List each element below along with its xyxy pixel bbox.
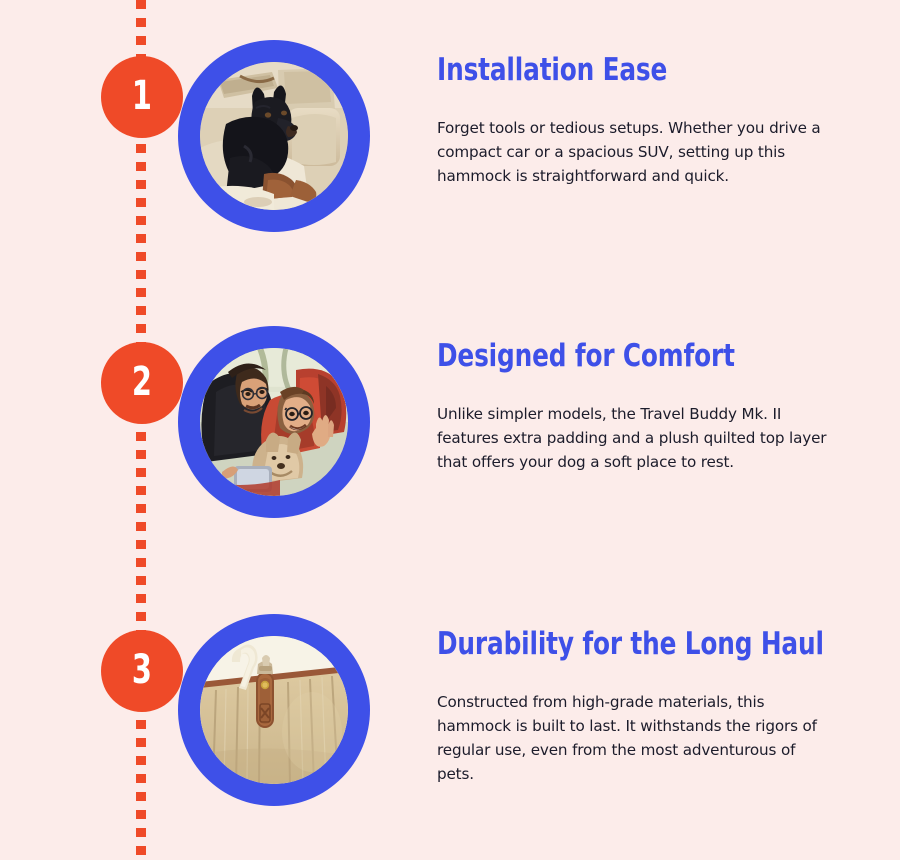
step-description: Constructed from high-grade materials, t… (437, 690, 829, 786)
step-number-badge: 3 (101, 630, 183, 712)
step-title: Installation Ease (437, 52, 757, 88)
step-title: Designed for Comfort (437, 338, 757, 374)
step-text-column: Designed for Comfort Unlike simpler mode… (437, 312, 837, 474)
step-photo-ring (178, 326, 370, 518)
couple-selfie-with-dog-in-hammock-photo (200, 348, 348, 496)
step-text-column: Installation Ease Forget tools or tediou… (437, 26, 837, 188)
step-description: Unlike simpler models, the Travel Buddy … (437, 402, 829, 474)
step-number-badge: 2 (101, 342, 183, 424)
quilted-hammock-leather-strap-closeup-photo (200, 636, 348, 784)
step-number-label: 2 (132, 362, 152, 402)
step-photo-ring (178, 40, 370, 232)
step-description: Forget tools or tedious setups. Whether … (437, 116, 829, 188)
step-number-label: 3 (132, 650, 152, 690)
step-text-column: Durability for the Long Haul Constructed… (437, 600, 837, 786)
step-photo-ring (178, 614, 370, 806)
doberman-dog-in-car-back-seat-photo (200, 62, 348, 210)
step-number-label: 1 (132, 76, 152, 116)
step-title: Durability for the Long Haul (437, 626, 757, 662)
features-infographic: 1 (0, 0, 900, 860)
step-number-badge: 1 (101, 56, 183, 138)
